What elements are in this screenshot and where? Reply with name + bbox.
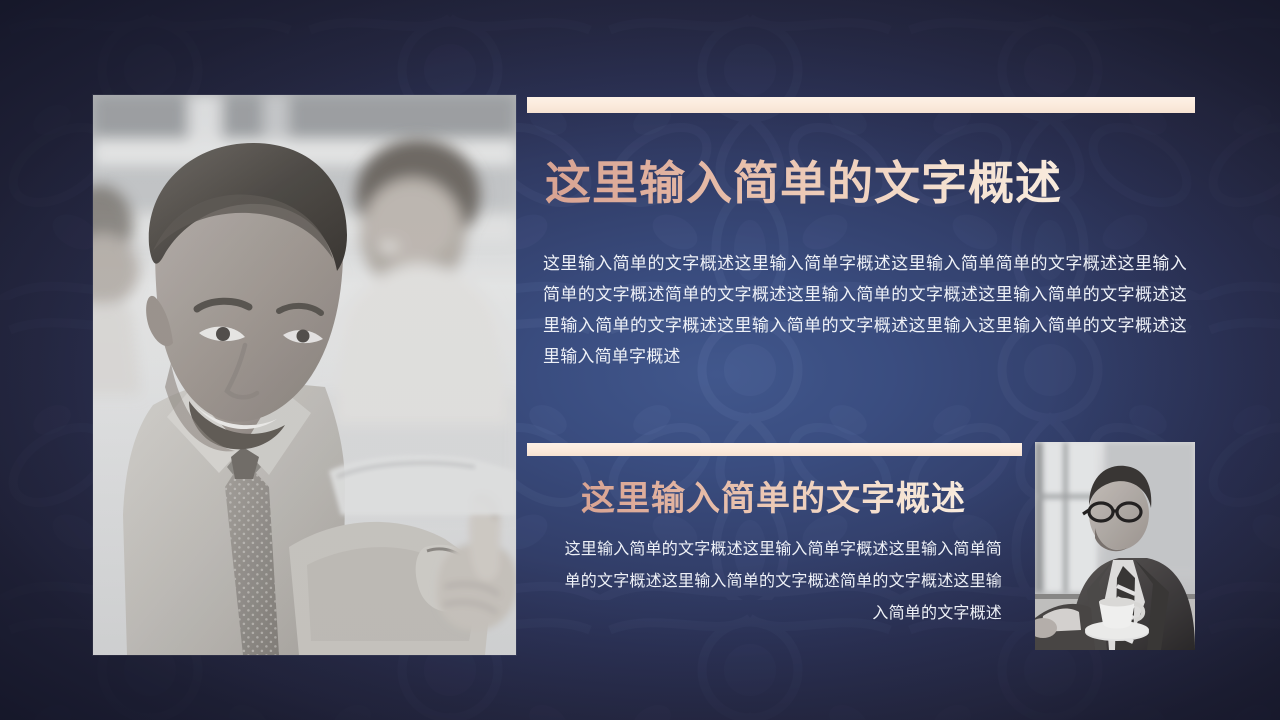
primary-divider-bar (527, 97, 1195, 113)
secondary-body-text: 这里输入简单的文字概述这里输入简单字概述这里输入简单简单的文字概述这里输入简单的… (556, 534, 1002, 630)
presentation-slide: 这里输入简单的文字概述 这里输入简单的文字概述这里输入简单字概述这里输入简单简单… (0, 0, 1280, 720)
secondary-divider-bar (527, 443, 1022, 456)
primary-body-text: 这里输入简单的文字概述这里输入简单字概述这里输入简单简单的文字概述这里输入简单的… (543, 248, 1187, 372)
primary-title: 这里输入简单的文字概述 (545, 155, 1062, 211)
secondary-photo (1035, 442, 1195, 650)
secondary-title: 这里输入简单的文字概述 (581, 478, 966, 520)
main-photo (93, 95, 516, 655)
